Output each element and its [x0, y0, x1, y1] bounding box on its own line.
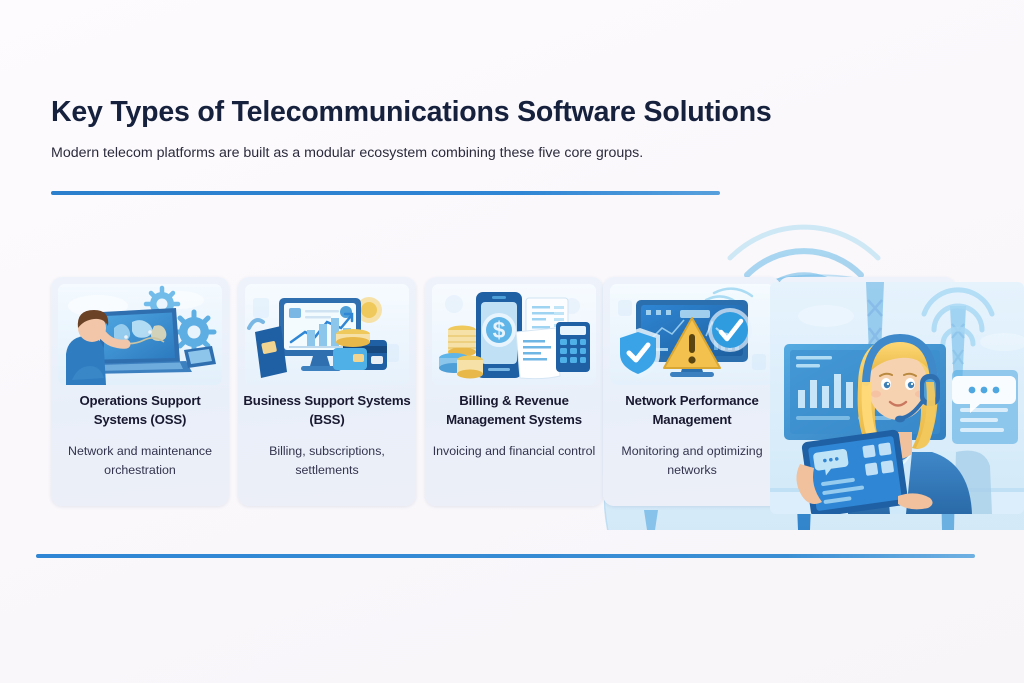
page-title: Key Types of Telecommunications Software…: [51, 96, 811, 129]
page-subtitle: Modern telecom platforms are built as a …: [51, 145, 811, 161]
card-billing-revenue-management[interactable]: $: [425, 277, 603, 506]
invoice-and-payment-icon: $: [432, 284, 596, 385]
svg-text:$: $: [493, 317, 506, 343]
card-network-performance-management[interactable]: Network Performance Management Monitorin…: [603, 277, 781, 506]
network-monitoring-alert-icon: [610, 284, 774, 385]
header-block: Key Types of Telecommunications Software…: [51, 96, 811, 161]
header-divider-rule: [51, 191, 720, 195]
monitor-with-growth-chart-icon: [245, 284, 409, 385]
infographic-canvas: Key Types of Telecommunications Software…: [0, 0, 1024, 683]
engineer-at-laptop-icon: [58, 284, 222, 385]
card-title: Business Support Systems (BSS): [242, 391, 412, 430]
footer-divider-rule: [36, 554, 975, 558]
card-text-block: Billing & Revenue Management Systems Inv…: [429, 391, 599, 461]
card-title: Billing & Revenue Management Systems: [429, 391, 599, 430]
card-business-support-systems[interactable]: Business Support Systems (BSS) Billing, …: [238, 277, 416, 506]
card-title: Operations Support Systems (OSS): [55, 391, 225, 430]
card-text-block: Business Support Systems (BSS) Billing, …: [242, 391, 412, 480]
card-description: Monitoring and optimizing networks: [607, 442, 777, 480]
card-description: Invoicing and financial control: [429, 442, 599, 461]
support-agent-illustration: [770, 282, 1024, 514]
card-title: Network Performance Management: [607, 391, 777, 430]
card-text-block: Operations Support Systems (OSS) Network…: [55, 391, 225, 480]
card-text-block: Network Performance Management Monitorin…: [607, 391, 777, 480]
card-operations-support-systems[interactable]: Operations Support Systems (OSS) Network…: [51, 277, 229, 506]
card-description: Network and maintenance orchestration: [55, 442, 225, 480]
card-description: Billing, subscriptions, settlements: [242, 442, 412, 480]
